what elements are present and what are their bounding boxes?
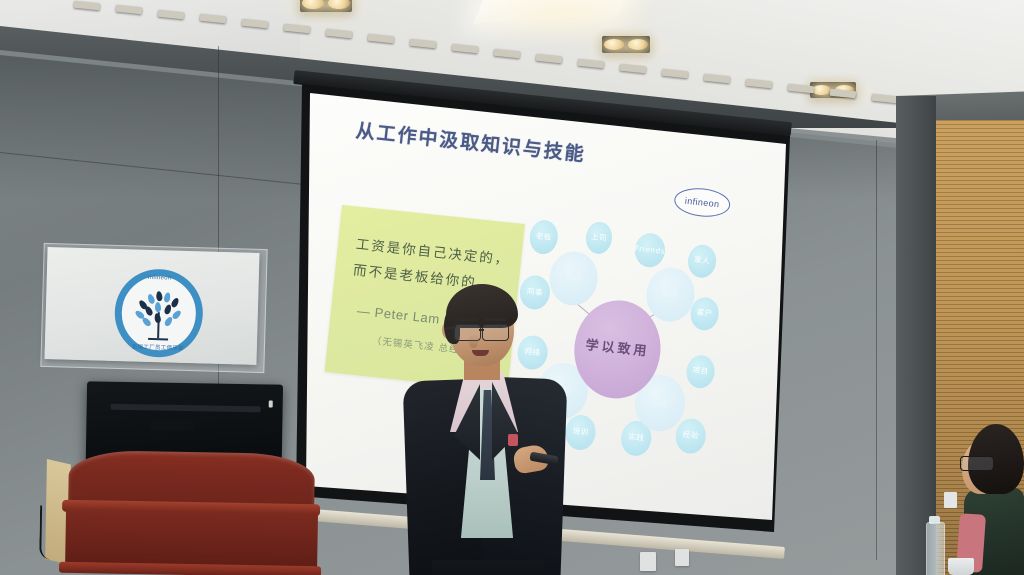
presenter-figure: [398, 288, 568, 575]
bubble-label: 实践: [628, 433, 645, 443]
tree-leaf: [163, 316, 173, 328]
diagram-bubble: 家人: [686, 243, 717, 279]
tree-leaf: [144, 305, 154, 317]
tree-leaf: [154, 313, 162, 324]
tree-leaf: [163, 292, 171, 303]
tree-leaf: [170, 297, 180, 309]
wall-switch[interactable]: [675, 549, 689, 566]
bubble-label: 导师: [565, 273, 582, 283]
bubble-label: 项目: [692, 367, 709, 377]
bubble-label: 实践: [652, 398, 669, 408]
wall-column: [896, 96, 936, 575]
infineon-logo-text: infineon: [684, 196, 720, 210]
diagram-bubble: 项目: [685, 354, 716, 390]
diagram-center-label: 学以致用: [585, 339, 650, 360]
audience-eyeglasses-icon: [960, 456, 994, 471]
tree-leaf: [147, 293, 156, 304]
monitor-reflection: [111, 404, 261, 413]
wall-seam: [876, 140, 877, 560]
tree-base: [148, 338, 168, 341]
diagram-bubble: Friends: [633, 232, 666, 269]
emblem-top-text: infineon: [123, 274, 197, 282]
eyeglasses-right-lens-icon: [482, 324, 509, 341]
audience-member: [962, 424, 1024, 575]
emblem-bottom-text: 无锡工厂员工俱乐部: [121, 342, 195, 352]
tree-leaf: [141, 316, 152, 327]
bubble-label: 客户: [696, 309, 713, 319]
tree-emblem-icon: infineon 无锡工厂员工俱乐部: [114, 268, 204, 358]
bubble-label: Friends: [634, 245, 665, 256]
diagram-bubble: 经验: [674, 417, 707, 455]
tree-leaf: [155, 302, 162, 312]
trousers: [432, 560, 544, 575]
eyebrow: [456, 318, 478, 321]
diagram-bubble: 老板: [528, 219, 559, 256]
nose: [469, 334, 478, 348]
microphone-base: [150, 420, 194, 430]
diagram-bubble: 培训: [564, 414, 597, 452]
tree-leaf: [163, 304, 172, 315]
spotlight-1-icon: [300, 0, 352, 12]
bubble-label: 老板: [535, 232, 552, 242]
name-badge: [508, 434, 518, 446]
bubble-label: 上司: [591, 233, 608, 243]
lectern: [57, 450, 321, 575]
monitor-power-led-icon: [269, 400, 273, 407]
spotlight-2-icon: [602, 36, 650, 53]
club-banner: infineon 无锡工厂员工俱乐部: [44, 247, 259, 365]
slide-title: 从工作中汲取知识与技能: [355, 116, 588, 167]
diagram-bubble: 客户: [689, 296, 720, 332]
bubble-label: 培训: [572, 428, 589, 438]
eyebrow: [484, 318, 506, 321]
tree-leaf: [156, 291, 163, 302]
bubble-label: 团队: [662, 290, 679, 300]
infineon-logo-icon: infineon: [673, 186, 732, 220]
wall-switch[interactable]: [944, 492, 957, 508]
wall-outlet[interactable]: [640, 552, 656, 571]
bubble-label: 家人: [694, 256, 711, 266]
paper-cup: [948, 558, 974, 575]
tree-leaf: [171, 309, 182, 320]
water-bottle: [926, 522, 945, 575]
diagram-bubble: 上司: [584, 221, 613, 256]
presentation-room-photo: 从工作中汲取知识与技能 infineon 工资是你自己决定的， 而不是老板给你的…: [0, 0, 1024, 575]
hair: [446, 284, 518, 328]
cable: [39, 505, 58, 559]
eyeglasses-bridge: [479, 329, 484, 331]
bubble-label: 经验: [682, 431, 699, 441]
